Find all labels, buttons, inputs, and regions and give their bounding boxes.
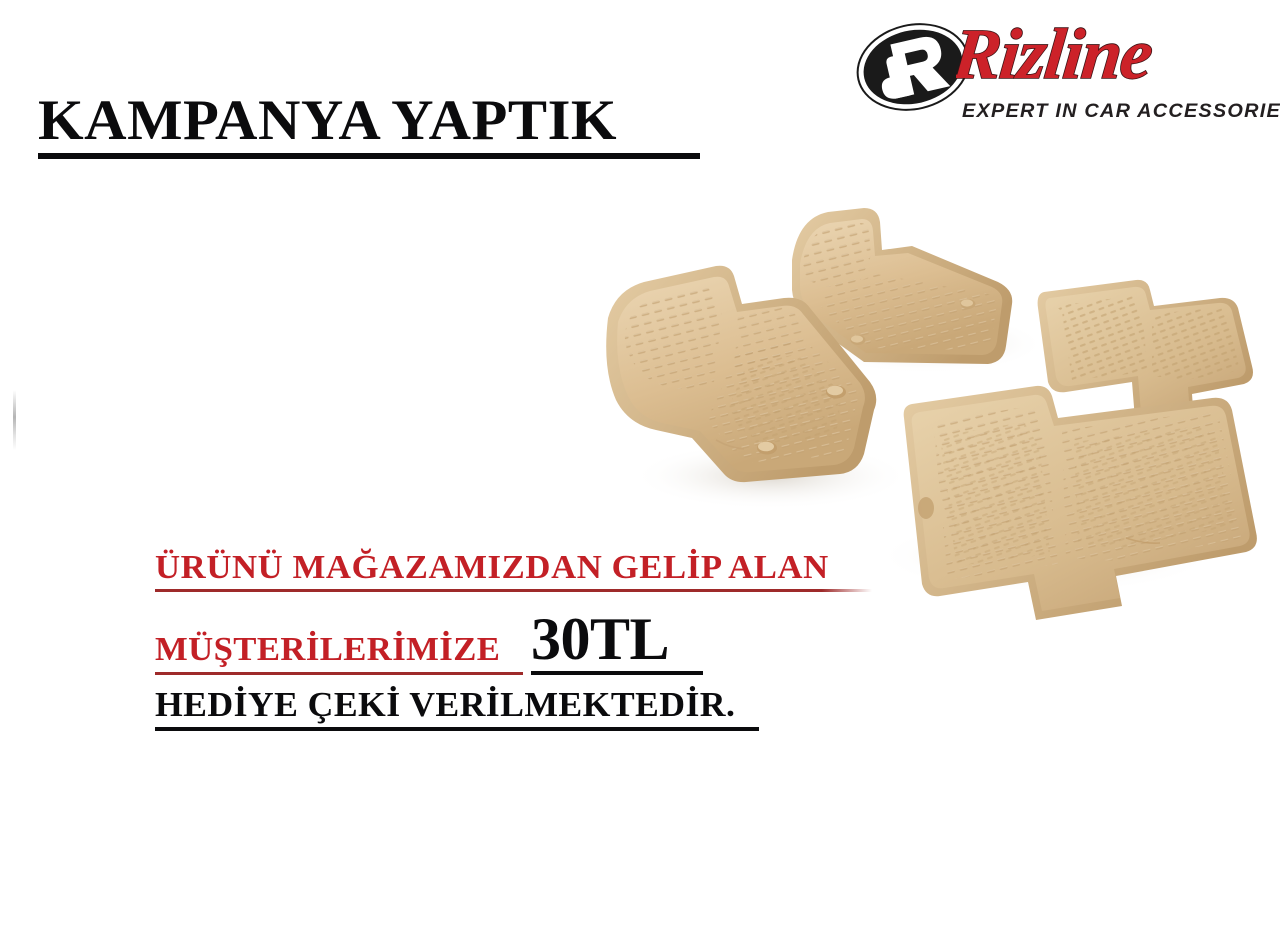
promo-line-3-underline (155, 727, 759, 731)
promotional-poster: Rizline EXPERT IN CAR ACCESSORIES KAMPAN… (0, 0, 1280, 934)
promo-line-3: HEDİYE ÇEKİ VERİLMEKTEDİR. (155, 684, 910, 725)
headline-block: KAMPANYA YAPTIK (38, 92, 700, 159)
logo-tagline: EXPERT IN CAR ACCESSORIES (962, 100, 1268, 123)
rear-left-mat (904, 386, 1257, 620)
promo-line-2-underline (155, 672, 523, 675)
promo-text-block: ÜRÜNÜ MAĞAZAMIZDAN GELİP ALAN MÜŞTERİLER… (155, 548, 895, 731)
rizline-wordmark: Rizline (956, 12, 1264, 100)
promo-line-1: ÜRÜNÜ MAĞAZAMIZDAN GELİP ALAN (155, 548, 910, 588)
page-title: KAMPANYA YAPTIK (38, 92, 720, 150)
left-edge-artifact (13, 390, 16, 450)
promo-amount: 30TL (531, 610, 703, 668)
promo-line-1-underline (155, 589, 872, 592)
svg-text:Rizline: Rizline (956, 14, 1156, 94)
promo-line-2: MÜŞTERİLERİMİZE 30TL (155, 610, 895, 675)
promo-amount-wrap: 30TL (531, 610, 703, 675)
promo-customers-wrap: MÜŞTERİLERİMİZE (155, 630, 523, 675)
rizline-logo: Rizline EXPERT IN CAR ACCESSORIES (852, 12, 1264, 124)
promo-line-2-prefix: MÜŞTERİLERİMİZE (155, 630, 530, 670)
headline-underline (38, 153, 700, 159)
